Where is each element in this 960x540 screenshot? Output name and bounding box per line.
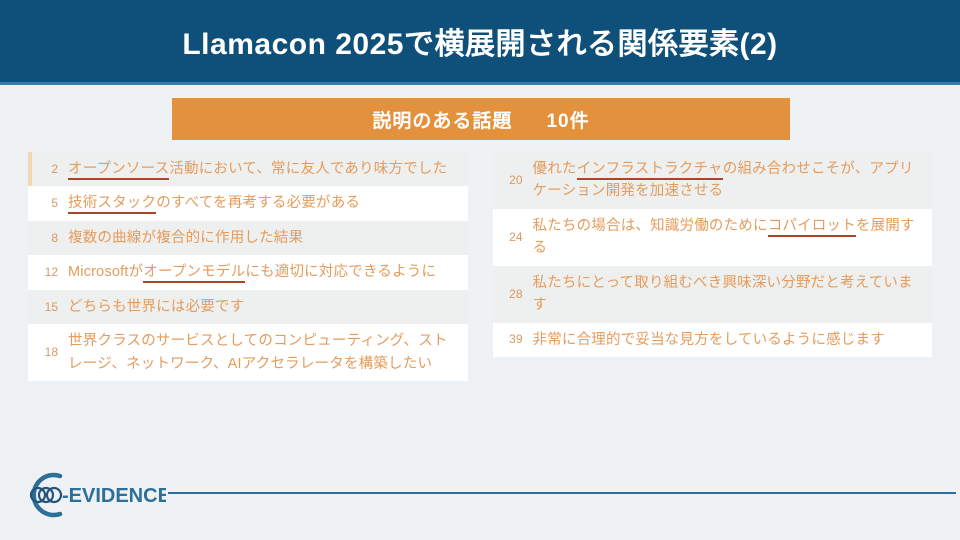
topic-row-number: 8 <box>32 232 68 245</box>
topic-row-text: 技術スタックのすべてを再考する必要がある <box>68 192 458 214</box>
left-column: 2オープンソース活動において、常に友人であり味方でした5技術スタックのすべてを再… <box>28 152 468 381</box>
topic-banner-count: 10件 <box>546 106 589 133</box>
topic-row-text: 優れたインフラストラクチャの組み合わせこそが、アプリケーション開発を加速させる <box>533 158 923 203</box>
topic-keyword: オープンモデル <box>143 264 245 283</box>
topic-row-number: 5 <box>32 197 68 210</box>
slide-root: Llamacon 2025で横展開される関係要素(2) 説明のある話題 10件 … <box>0 0 960 540</box>
right-column: 20優れたインフラストラクチャの組み合わせこそが、アプリケーション開発を加速させ… <box>493 152 933 357</box>
topic-row-text: Microsoftがオープンモデルにも適切に対応できるように <box>68 261 458 283</box>
topic-keyword: インフラストラクチャ <box>577 161 723 180</box>
topic-row-number: 12 <box>32 266 68 279</box>
topic-row[interactable]: 15どちらも世界には必要です <box>28 290 468 324</box>
topic-row-number: 20 <box>497 174 533 187</box>
logo-wordmark: -EVIDENCE <box>62 485 166 507</box>
topic-text-segment: 私たちの場合は、知識労働のために <box>533 218 768 234</box>
topic-row[interactable]: 24私たちの場合は、知識労働のためにコパイロットを展開する <box>493 209 933 266</box>
topic-keyword: オープンソース <box>68 161 169 180</box>
topic-row-text: オープンソース活動において、常に友人であり味方でした <box>68 158 458 180</box>
topic-row[interactable]: 2オープンソース活動において、常に友人であり味方でした <box>28 152 468 186</box>
topic-row-number: 28 <box>497 288 533 301</box>
topic-text-segment: 優れた <box>533 161 577 177</box>
logo-svg: -EVIDENCE <box>16 466 166 524</box>
topic-row-text: どちらも世界には必要です <box>68 296 458 318</box>
topic-banner: 説明のある話題 10件 <box>172 98 790 140</box>
topic-row-number: 24 <box>497 231 533 244</box>
footer-divider <box>168 492 956 494</box>
topic-text-segment: 世界クラスのサービスとしてのコンピューティング、ストレージ、ネットワーク、AIア… <box>68 333 448 371</box>
topic-banner-inner: 説明のある話題 10件 <box>372 106 589 133</box>
topic-text-segment: Microsoftが <box>68 264 143 280</box>
topic-row-text: 私たちにとって取り組むべき興味深い分野だと考えています <box>533 272 923 317</box>
slide-header: Llamacon 2025で横展開される関係要素(2) <box>0 0 960 82</box>
topic-columns: 2オープンソース活動において、常に友人であり味方でした5技術スタックのすべてを再… <box>28 152 932 381</box>
topic-row-text: 複数の曲線が複合的に作用した結果 <box>68 227 458 249</box>
topic-keyword: 技術スタック <box>68 195 156 214</box>
topic-text-segment: 非常に合理的で妥当な見方をしているように感じます <box>533 332 885 348</box>
topic-text-segment: にも適切に対応できるように <box>245 264 436 280</box>
cog-evidence-logo: -EVIDENCE <box>16 466 166 524</box>
topic-text-segment: のすべてを再考する必要がある <box>156 195 360 211</box>
topic-row[interactable]: 28私たちにとって取り組むべき興味深い分野だと考えています <box>493 266 933 323</box>
slide-footer: -EVIDENCE <box>0 462 960 540</box>
header-divider <box>0 82 960 85</box>
topic-row[interactable]: 12Microsoftがオープンモデルにも適切に対応できるように <box>28 255 468 289</box>
topic-row[interactable]: 5技術スタックのすべてを再考する必要がある <box>28 186 468 220</box>
topic-banner-label: 説明のある話題 <box>372 106 512 133</box>
page-title: Llamacon 2025で横展開される関係要素(2) <box>182 19 777 63</box>
topic-text-segment: 私たちにとって取り組むべき興味深い分野だと考えています <box>533 275 913 313</box>
topic-row[interactable]: 18世界クラスのサービスとしてのコンピューティング、ストレージ、ネットワーク、A… <box>28 324 468 381</box>
topic-text-segment: 複数の曲線が複合的に作用した結果 <box>68 230 303 246</box>
topic-row-text: 世界クラスのサービスとしてのコンピューティング、ストレージ、ネットワーク、AIア… <box>68 330 458 375</box>
topic-row-number: 18 <box>32 346 68 359</box>
topic-keyword: コパイロット <box>768 218 856 237</box>
topic-row-number: 39 <box>497 333 533 346</box>
topic-text-segment: どちらも世界には必要です <box>68 299 244 315</box>
topic-row[interactable]: 20優れたインフラストラクチャの組み合わせこそが、アプリケーション開発を加速させ… <box>493 152 933 209</box>
topic-text-segment: 活動において、常に友人であり味方でした <box>169 161 447 177</box>
topic-row-text: 非常に合理的で妥当な見方をしているように感じます <box>533 329 923 351</box>
topic-row-number: 15 <box>32 301 68 314</box>
topic-row[interactable]: 8複数の曲線が複合的に作用した結果 <box>28 221 468 255</box>
topic-row-number: 2 <box>32 163 68 176</box>
topic-row[interactable]: 39非常に合理的で妥当な見方をしているように感じます <box>493 323 933 357</box>
topic-row-text: 私たちの場合は、知識労働のためにコパイロットを展開する <box>533 215 923 260</box>
